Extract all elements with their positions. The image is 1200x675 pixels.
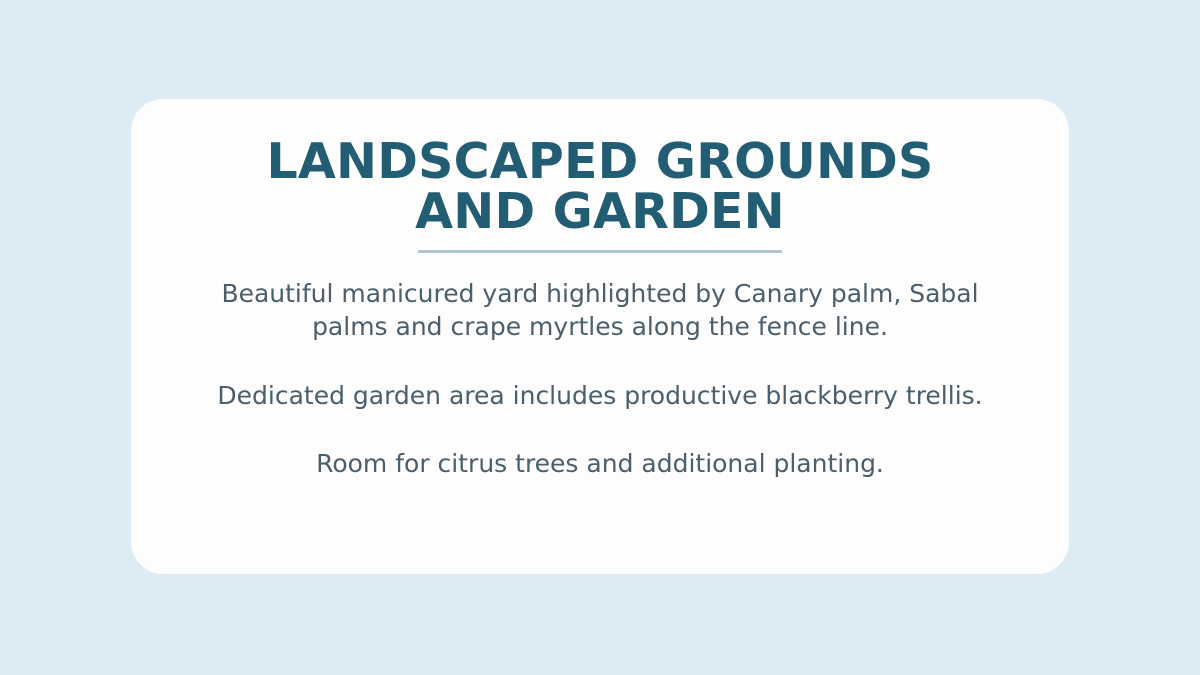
body-paragraph-1: Beautiful manicured yard highlighted by … <box>191 277 1009 344</box>
slide-canvas: LANDSCAPED GROUNDS AND GARDEN Beautiful … <box>0 0 1200 675</box>
card-content-wrapper: LANDSCAPED GROUNDS AND GARDEN Beautiful … <box>191 137 1009 481</box>
body-text-block: Beautiful manicured yard highlighted by … <box>191 277 1009 481</box>
slide-title: LANDSCAPED GROUNDS AND GARDEN <box>191 137 1009 237</box>
body-paragraph-3: Room for citrus trees and additional pla… <box>191 447 1009 481</box>
content-card: LANDSCAPED GROUNDS AND GARDEN Beautiful … <box>131 99 1069 574</box>
body-paragraph-2: Dedicated garden area includes productiv… <box>191 379 1009 413</box>
title-divider <box>418 250 782 253</box>
